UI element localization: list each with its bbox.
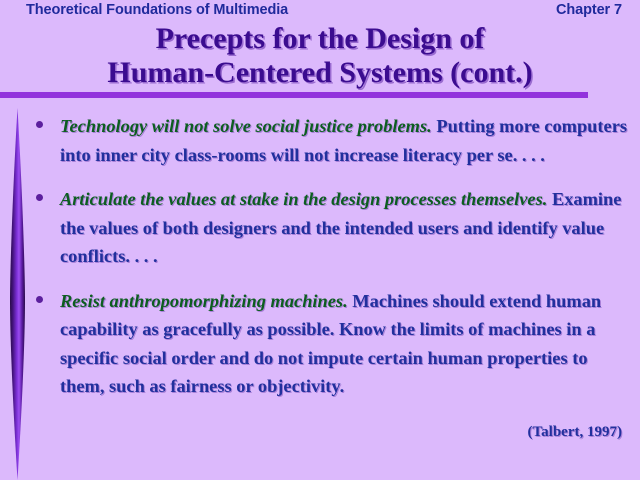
list-item-lead: Technology will not solve social justice… (60, 116, 432, 136)
bullet-dot-icon (36, 296, 43, 303)
title-divider-bar (0, 92, 588, 98)
page-title-line-1: Precepts for the Design of (0, 22, 640, 56)
list-item: Technology will not solve social justice… (32, 112, 632, 169)
list-item-text: Resist anthropomorphizing machines. Mach… (60, 287, 632, 401)
list-item-lead: Resist anthropomorphizing machines. (60, 291, 348, 311)
list-item-text: Technology will not solve social justice… (60, 112, 632, 169)
header-course-title: Theoretical Foundations of Multimedia (26, 2, 288, 18)
left-lens-ornament-icon (10, 108, 25, 480)
list-item: Resist anthropomorphizing machines. Mach… (32, 287, 632, 401)
list-item-text: Articulate the values at stake in the de… (60, 185, 632, 271)
list-item: Articulate the values at stake in the de… (32, 185, 632, 271)
list-item-lead: Articulate the values at stake in the de… (60, 189, 547, 209)
source-citation: (Talbert, 1997) (528, 424, 622, 441)
slide-header: Theoretical Foundations of Multimedia Ch… (0, 2, 640, 22)
page-title: Precepts for the Design of Human-Centere… (0, 22, 640, 90)
page-title-line-2: Human-Centered Systems (cont.) (0, 56, 640, 90)
slide-canvas: Theoretical Foundations of Multimedia Ch… (0, 0, 640, 480)
bullet-dot-icon (36, 194, 43, 201)
header-chapter-label: Chapter 7 (556, 2, 622, 18)
bullet-list: Technology will not solve social justice… (32, 112, 632, 417)
bullet-dot-icon (36, 121, 43, 128)
